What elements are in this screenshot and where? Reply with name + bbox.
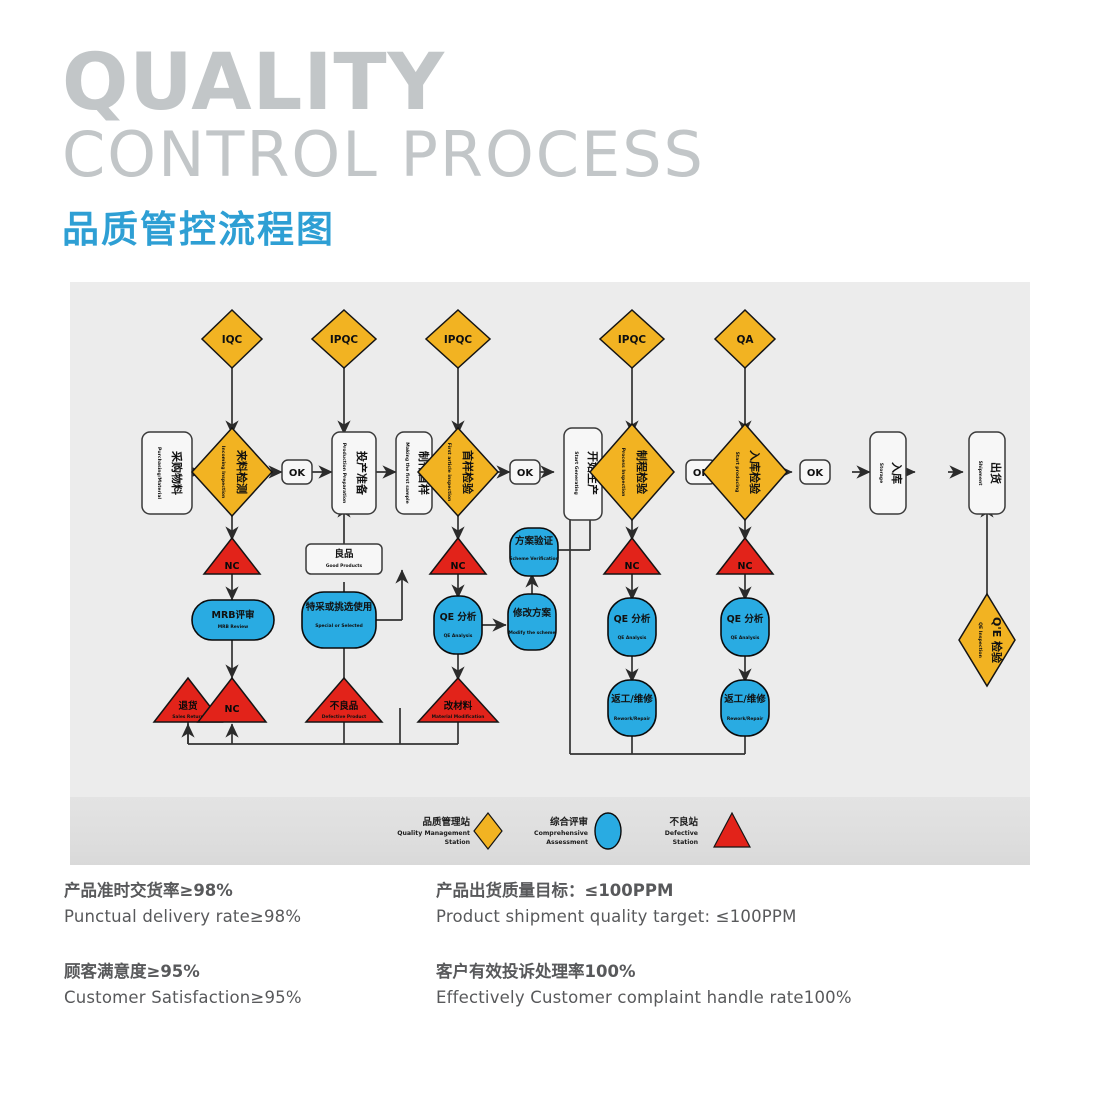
review-node-special[interactable]: 特采或挑选使用 Special or Selected [302, 592, 376, 648]
page-title-chinese: 品质管控流程图 [62, 199, 1062, 253]
process-box-prod-prep[interactable]: 投产准备 Production Preparation [332, 432, 376, 514]
kpi-complaint-en: Effectively Customer complaint handle ra… [436, 985, 996, 1011]
nc-node-mrb[interactable]: NC [198, 678, 266, 722]
inspection-first-article-en: First article inspection [446, 443, 452, 502]
nc-node-storage[interactable]: NC [717, 538, 773, 574]
inspection-storage-en: Start producing [734, 452, 740, 493]
review-node-special-en: Special or Selected [315, 623, 363, 629]
review-node-scheme-verification[interactable]: 方案验证 Scheme Verification [509, 528, 558, 576]
inspection-first-article-cn: 首样检验 [461, 450, 475, 495]
review-node-modify-scheme-en: Modify the scheme [509, 630, 556, 636]
kpi-complaint-cn: 客户有效投诉处理率100% [436, 959, 996, 985]
page-header: QUALITY CONTROL PROCESS 品质管控流程图 [62, 48, 1062, 253]
kpi-delivery-cn: 产品准时交货率≥98% [64, 878, 444, 904]
nc-node-storage-label: NC [738, 561, 753, 572]
station-qa-label: QA [736, 334, 754, 346]
defect-node-material-modification-cn: 改材料 [444, 700, 473, 712]
legend-quality-management-station-cn: 品质管理站 [422, 816, 470, 828]
review-node-qe-analysis-3[interactable]: QE 分析 QE Analysis [721, 598, 769, 656]
kpi-column-left: 产品准时交货率≥98% Punctual delivery rate≥98% 顾… [64, 878, 444, 1036]
process-box-storage-cn: 入库 [890, 462, 904, 484]
review-node-rework-2-cn: 返工/维修 [724, 693, 766, 705]
ok-badge-4-label: OK [807, 468, 825, 479]
nc-node-first-article[interactable]: NC [430, 538, 486, 574]
station-ipqc-3-label: IPQC [618, 334, 647, 346]
review-node-rework-1-en: Rework/Repair [614, 716, 651, 722]
station-qa[interactable]: QA [715, 310, 775, 368]
inspection-incoming-en: Incoming Inspection [220, 446, 226, 498]
nc-node-process[interactable]: NC [604, 538, 660, 574]
kpi-column-right: 产品出货质量目标：≤100PPM Product shipment qualit… [436, 878, 996, 1036]
nc-drop-connectors [232, 510, 745, 540]
legend-quality-management-station-en-1: Quality Management [397, 830, 470, 837]
flowchart-svg: .ln{stroke:#333;stroke-width:1.7;fill:no… [70, 282, 1030, 797]
legend-quality-management-station-en-2: Station [445, 839, 470, 846]
inspection-process-en: Process Inspection [620, 448, 626, 497]
legend-diamond-icon [474, 813, 502, 849]
nc-node-mrb-label: NC [225, 704, 240, 715]
process-box-start-production-en: Start Generating [573, 451, 579, 495]
nc-node-process-label: NC [625, 561, 640, 572]
ok-badge-1: OK [282, 460, 312, 484]
review-node-qe-analysis-1-cn: QE 分析 [440, 611, 477, 623]
process-box-shipment-cn: 出货 [989, 462, 1003, 484]
process-box-prod-prep-en: Production Preparation [341, 443, 347, 504]
legend-oval-icon [595, 813, 621, 849]
review-node-rework-2-en: Rework/Repair [727, 716, 764, 722]
review-node-qe-analysis-3-en: QE Analysis [731, 635, 760, 641]
review-node-scheme-verification-en: Scheme Verification [509, 556, 558, 562]
review-node-qe-analysis-3-cn: QE 分析 [727, 613, 764, 625]
process-box-storage[interactable]: 入库 Storage [870, 432, 906, 514]
review-node-rework-1[interactable]: 返工/维修 Rework/Repair [608, 680, 656, 736]
kpi-ppm-cn: 产品出货质量目标：≤100PPM [436, 878, 996, 904]
nc-node-incoming-label: NC [225, 561, 240, 572]
station-ipqc-3[interactable]: IPQC [600, 310, 664, 368]
kpi-satisfaction-en: Customer Satisfaction≥95% [64, 985, 444, 1011]
process-box-good-products-en: Good Products [326, 563, 363, 569]
review-node-mrb-en: MRB Review [218, 624, 248, 630]
review-node-special-cn: 特采或挑选使用 [306, 601, 373, 613]
defect-node-sales-return-en: Sales Return [172, 714, 204, 720]
ok-badge-2: OK [510, 460, 540, 484]
left-branch-connectors [232, 504, 402, 678]
nc-node-incoming[interactable]: NC [204, 538, 260, 574]
process-box-purchasing[interactable]: 采购物料 Purchasing/Material [142, 432, 192, 514]
station-ipqc-1-label: IPQC [330, 334, 359, 346]
review-node-qe-analysis-1[interactable]: QE 分析 QE Analysis [434, 596, 482, 654]
process-box-good-products-cn: 良品 [334, 548, 353, 560]
station-connectors [232, 367, 745, 434]
process-box-purchasing-cn: 采购物料 [170, 450, 184, 495]
process-box-purchasing-en: Purchasing/Material [156, 447, 162, 499]
legend-defective-station-en-2: Station [673, 839, 698, 846]
legend-item-comprehensive-assessment: 综合评审 Comprehensive Assessment [534, 813, 621, 849]
legend-defective-station-en-1: Defective [665, 830, 698, 837]
inspection-qe-cn: Q'E 检验 [990, 617, 1004, 664]
review-node-mrb[interactable]: MRB评审 MRB Review [192, 600, 274, 640]
ok-badge-2-label: OK [517, 468, 535, 479]
ok-badge-1-label: OK [289, 468, 307, 479]
review-node-qe-analysis-2-cn: QE 分析 [614, 613, 651, 625]
station-ipqc-2[interactable]: IPQC [426, 310, 490, 368]
kpi-ppm-en: Product shipment quality target: ≤100PPM [436, 904, 996, 930]
defect-node-sales-return-cn: 退货 [178, 700, 198, 712]
inspection-process-cn: 制程检验 [635, 450, 649, 495]
legend-comprehensive-assessment-cn: 综合评审 [550, 816, 588, 828]
process-box-good-products[interactable]: 良品 Good Products [306, 544, 382, 574]
page-title-control: CONTROL PROCESS [62, 122, 1062, 187]
defect-node-defective-product[interactable]: 不良品 Defective Product [306, 678, 382, 722]
station-ipqc-2-label: IPQC [444, 334, 473, 346]
inspection-incoming-cn: 来料检测 [235, 449, 249, 494]
process-box-shipment-en: Shipment [977, 461, 983, 487]
review-node-qe-analysis-2[interactable]: QE 分析 QE Analysis [608, 598, 656, 656]
flowchart-panel: .ln{stroke:#333;stroke-width:1.7;fill:no… [70, 282, 1030, 797]
page-title-quality: QUALITY [62, 48, 1062, 120]
inspection-qe-en: QE Inspection [977, 622, 983, 658]
legend-item-defective-station: 不良站 Defective Station [665, 813, 750, 847]
legend-svg: .lgcn{font-size:9.5px;font-weight:bold;f… [70, 797, 1030, 865]
inspection-incoming[interactable]: 来料检测 Incoming Inspection [192, 428, 272, 516]
review-node-scheme-verification-cn: 方案验证 [515, 535, 554, 547]
review-node-qe-analysis-1-en: QE Analysis [444, 633, 473, 639]
ok-badge-4: OK [800, 460, 830, 484]
nc-node-first-article-label: NC [451, 561, 466, 572]
process-box-prod-prep-cn: 投产准备 [355, 451, 369, 496]
station-iqc-label: IQC [222, 334, 243, 346]
process-box-storage-en: Storage [878, 463, 884, 483]
legend-triangle-icon [714, 813, 750, 847]
defect-node-defective-product-cn: 不良品 [330, 700, 359, 712]
defect-node-material-modification[interactable]: 改材料 Material Modification [418, 678, 498, 722]
review-node-modify-scheme[interactable]: 修改方案 Modify the scheme [508, 594, 556, 650]
review-node-qe-analysis-2-en: QE Analysis [618, 635, 647, 641]
inspection-qe[interactable]: Q'E 检验 QE Inspection [959, 594, 1015, 686]
defect-node-material-modification-en: Material Modification [432, 714, 485, 720]
kpi-complaint: 客户有效投诉处理率100% Effectively Customer compl… [436, 959, 996, 1010]
review-node-rework-2[interactable]: 返工/维修 Rework/Repair [721, 680, 769, 736]
review-node-modify-scheme-cn: 修改方案 [512, 607, 552, 619]
kpi-delivery-en: Punctual delivery rate≥98% [64, 904, 444, 930]
kpi-ppm: 产品出货质量目标：≤100PPM Product shipment qualit… [436, 878, 996, 929]
legend-comprehensive-assessment-en-1: Comprehensive [534, 830, 588, 837]
legend-comprehensive-assessment-en-2: Assessment [546, 839, 588, 846]
inspection-storage[interactable]: 入库检验 Start producing [703, 424, 787, 520]
kpi-delivery: 产品准时交货率≥98% Punctual delivery rate≥98% [64, 878, 444, 929]
station-ipqc-1[interactable]: IPQC [312, 310, 376, 368]
kpi-satisfaction-cn: 顾客满意度≥95% [64, 959, 444, 985]
legend-band: .lgcn{font-size:9.5px;font-weight:bold;f… [70, 797, 1030, 865]
station-iqc[interactable]: IQC [202, 310, 262, 368]
review-node-mrb-cn: MRB评审 [211, 609, 254, 621]
legend-item-quality-management-station: 品质管理站 Quality Management Station [397, 813, 502, 849]
inspection-storage-cn: 入库检验 [748, 450, 762, 495]
legend-defective-station-cn: 不良站 [669, 816, 698, 828]
process-box-shipment[interactable]: 出货 Shipment [969, 432, 1005, 514]
kpi-satisfaction: 顾客满意度≥95% Customer Satisfaction≥95% [64, 959, 444, 1010]
defect-node-defective-product-en: Defective Product [322, 714, 366, 720]
process-box-first-sample-en: Making the first sample [404, 442, 410, 503]
review-node-rework-1-cn: 返工/维修 [611, 693, 653, 705]
